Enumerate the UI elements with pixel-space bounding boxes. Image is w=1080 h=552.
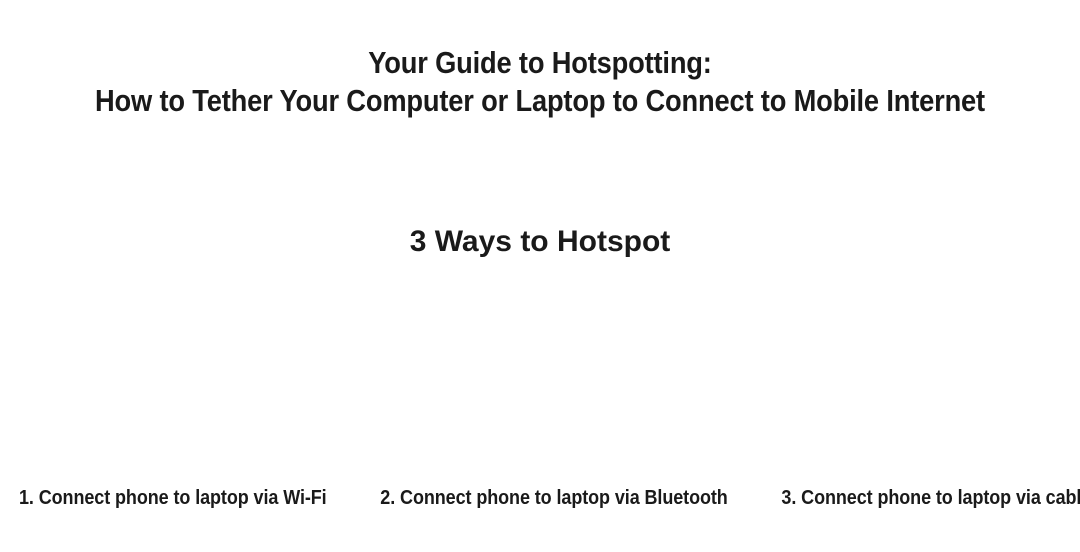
infographic-page: Your Guide to Hotspotting: How to Tether… <box>0 0 1080 552</box>
method-item-wifi: 1. Connect phone to laptop via Wi-Fi <box>0 486 361 510</box>
page-title: Your Guide to Hotspotting: How to Tether… <box>0 44 1080 120</box>
method-caption-row: 1. Connect phone to laptop via Wi-Fi 2. … <box>0 486 1080 518</box>
section-heading-label: 3 Ways to Hotspot <box>410 222 671 262</box>
method-item-bluetooth: 2. Connect phone to laptop via Bluetooth <box>361 486 747 510</box>
illustration-band <box>0 285 1080 480</box>
method-item-cable: 3. Connect phone to laptop via cable <box>747 486 1080 510</box>
illustration-slot-cable <box>720 285 1080 480</box>
page-title-line-2: How to Tether Your Computer or Laptop to… <box>65 82 1015 120</box>
illustration-slot-bluetooth <box>360 285 720 480</box>
method-caption-bluetooth: 2. Connect phone to laptop via Bluetooth <box>380 486 727 510</box>
method-caption-cable: 3. Connect phone to laptop via cable <box>781 486 1080 510</box>
page-title-line-1: Your Guide to Hotspotting: <box>65 44 1015 82</box>
illustration-slot-wifi <box>0 285 360 480</box>
section-heading: 3 Ways to Hotspot <box>0 222 1080 262</box>
method-caption-wifi: 1. Connect phone to laptop via Wi-Fi <box>19 486 327 510</box>
